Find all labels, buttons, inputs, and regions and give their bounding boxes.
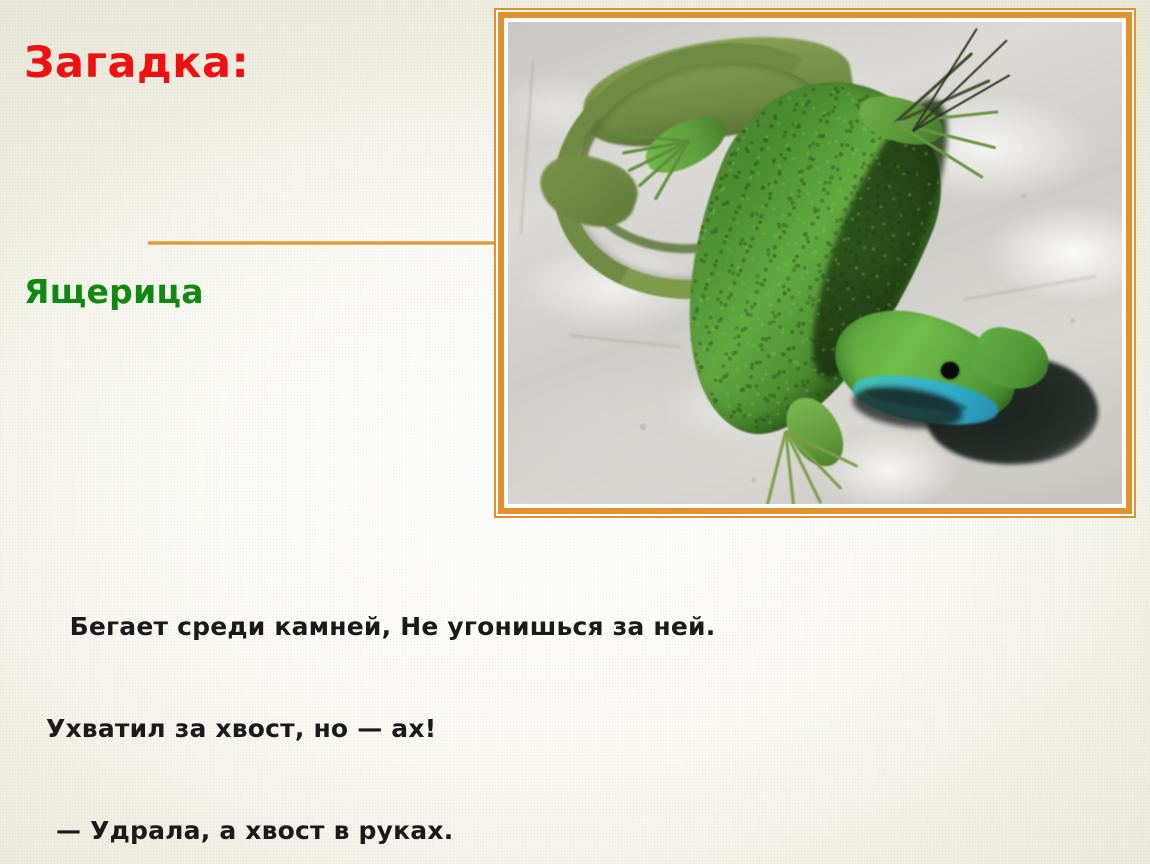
lizard-claw-strokes [913,61,1073,177]
riddle-line-1: Бегает среди камней, Не угонишься за ней… [70,612,716,641]
lizard-photo-frame [494,8,1136,518]
presentation-slide: Загадка: Ящерица Бегает среди камней, Не… [0,0,1150,864]
riddle-answer-label: Ящерица [24,272,204,311]
page-title: Загадка: [24,38,249,88]
riddle-line-3: — Удрала, а хвост в руках. [34,814,715,848]
riddle-line-2: Ухватил за хвост, но — ах! [34,712,715,746]
horizontal-divider [148,241,503,245]
riddle-text-block: Бегает среди камней, Не угонишься за ней… [34,576,715,864]
lizard-photo [508,22,1122,504]
photo-frame-mat [498,12,1132,514]
lizard-illustration [508,22,1122,504]
